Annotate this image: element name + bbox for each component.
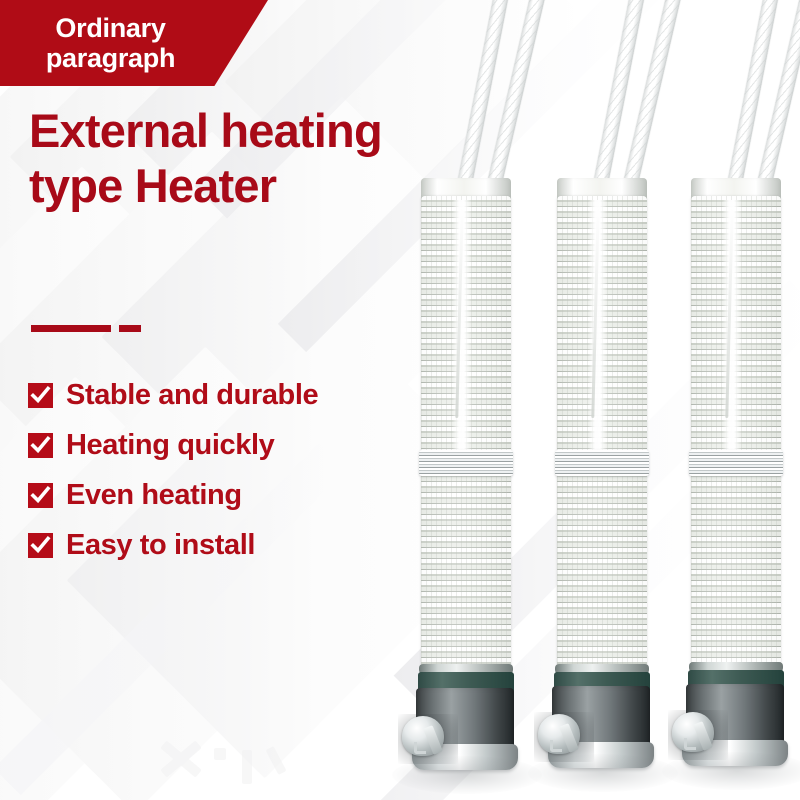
product-shadow	[528, 754, 678, 792]
terminal-pin-hook	[684, 738, 696, 750]
feature-item: Even heating	[28, 481, 318, 510]
feature-label: Even heating	[66, 481, 242, 510]
product-banner-image: Ordinary paragraph External heating type…	[0, 0, 800, 800]
check-square-icon	[28, 433, 53, 458]
page-title: External heating type Heater	[29, 104, 429, 214]
check-square-icon	[28, 383, 53, 408]
metal-band	[555, 450, 649, 476]
product-shadow	[392, 756, 542, 794]
terminal-pin-hook	[550, 740, 562, 752]
banner-text: Ordinary paragraph	[0, 0, 215, 86]
divider-bar-short	[119, 325, 141, 332]
divider-bar-long	[31, 325, 111, 332]
banner-line-2: paragraph	[46, 43, 175, 74]
feature-item: Stable and durable	[28, 381, 318, 410]
check-square-icon	[28, 533, 53, 558]
terminal-pin-hook	[414, 742, 426, 754]
feature-item: Easy to install	[28, 531, 318, 560]
product-shadow	[662, 752, 800, 790]
feature-label: Stable and durable	[66, 381, 318, 410]
title-divider	[31, 325, 141, 332]
feature-label: Heating quickly	[66, 431, 274, 460]
metal-band	[419, 450, 513, 476]
feature-list: Stable and durable Heating quickly Even …	[28, 381, 318, 560]
metal-band	[689, 450, 783, 476]
check-square-icon	[28, 483, 53, 508]
banner-line-1: Ordinary	[55, 13, 165, 44]
feature-item: Heating quickly	[28, 431, 318, 460]
feature-label: Easy to install	[66, 531, 255, 560]
